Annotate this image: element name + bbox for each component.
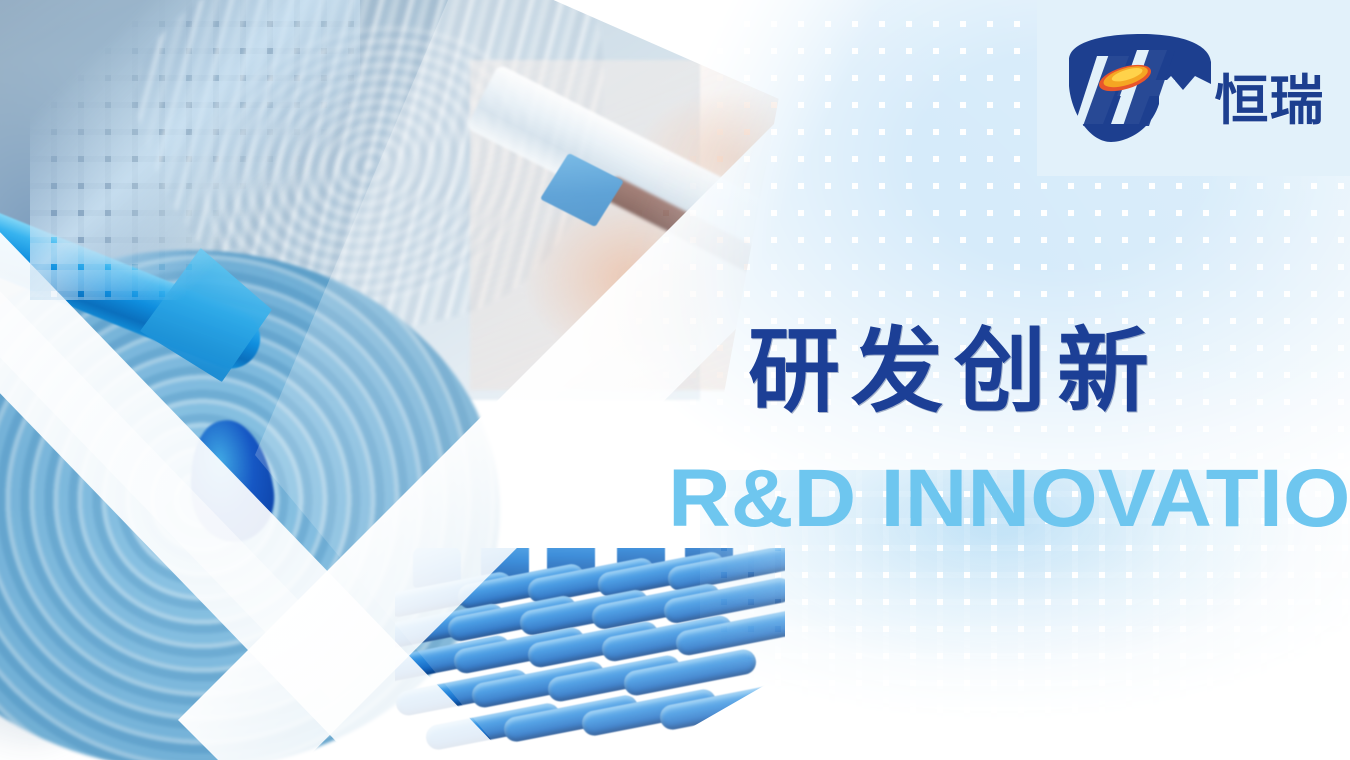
page-title-chinese: 研发创新: [748, 326, 1160, 418]
page-subtitle-english: R&D INNOVATION: [668, 458, 1350, 540]
square-grid-pattern-topleft: [30, 0, 360, 300]
rd-innovation-banner: 研发创新 R&D INNOVATION 恒: [0, 0, 1350, 760]
hengrui-wordmark: 恒瑞: [1215, 74, 1325, 128]
hengrui-logo-panel: 恒瑞: [1037, 0, 1350, 176]
hengrui-swoosh-icon: [1063, 32, 1215, 144]
